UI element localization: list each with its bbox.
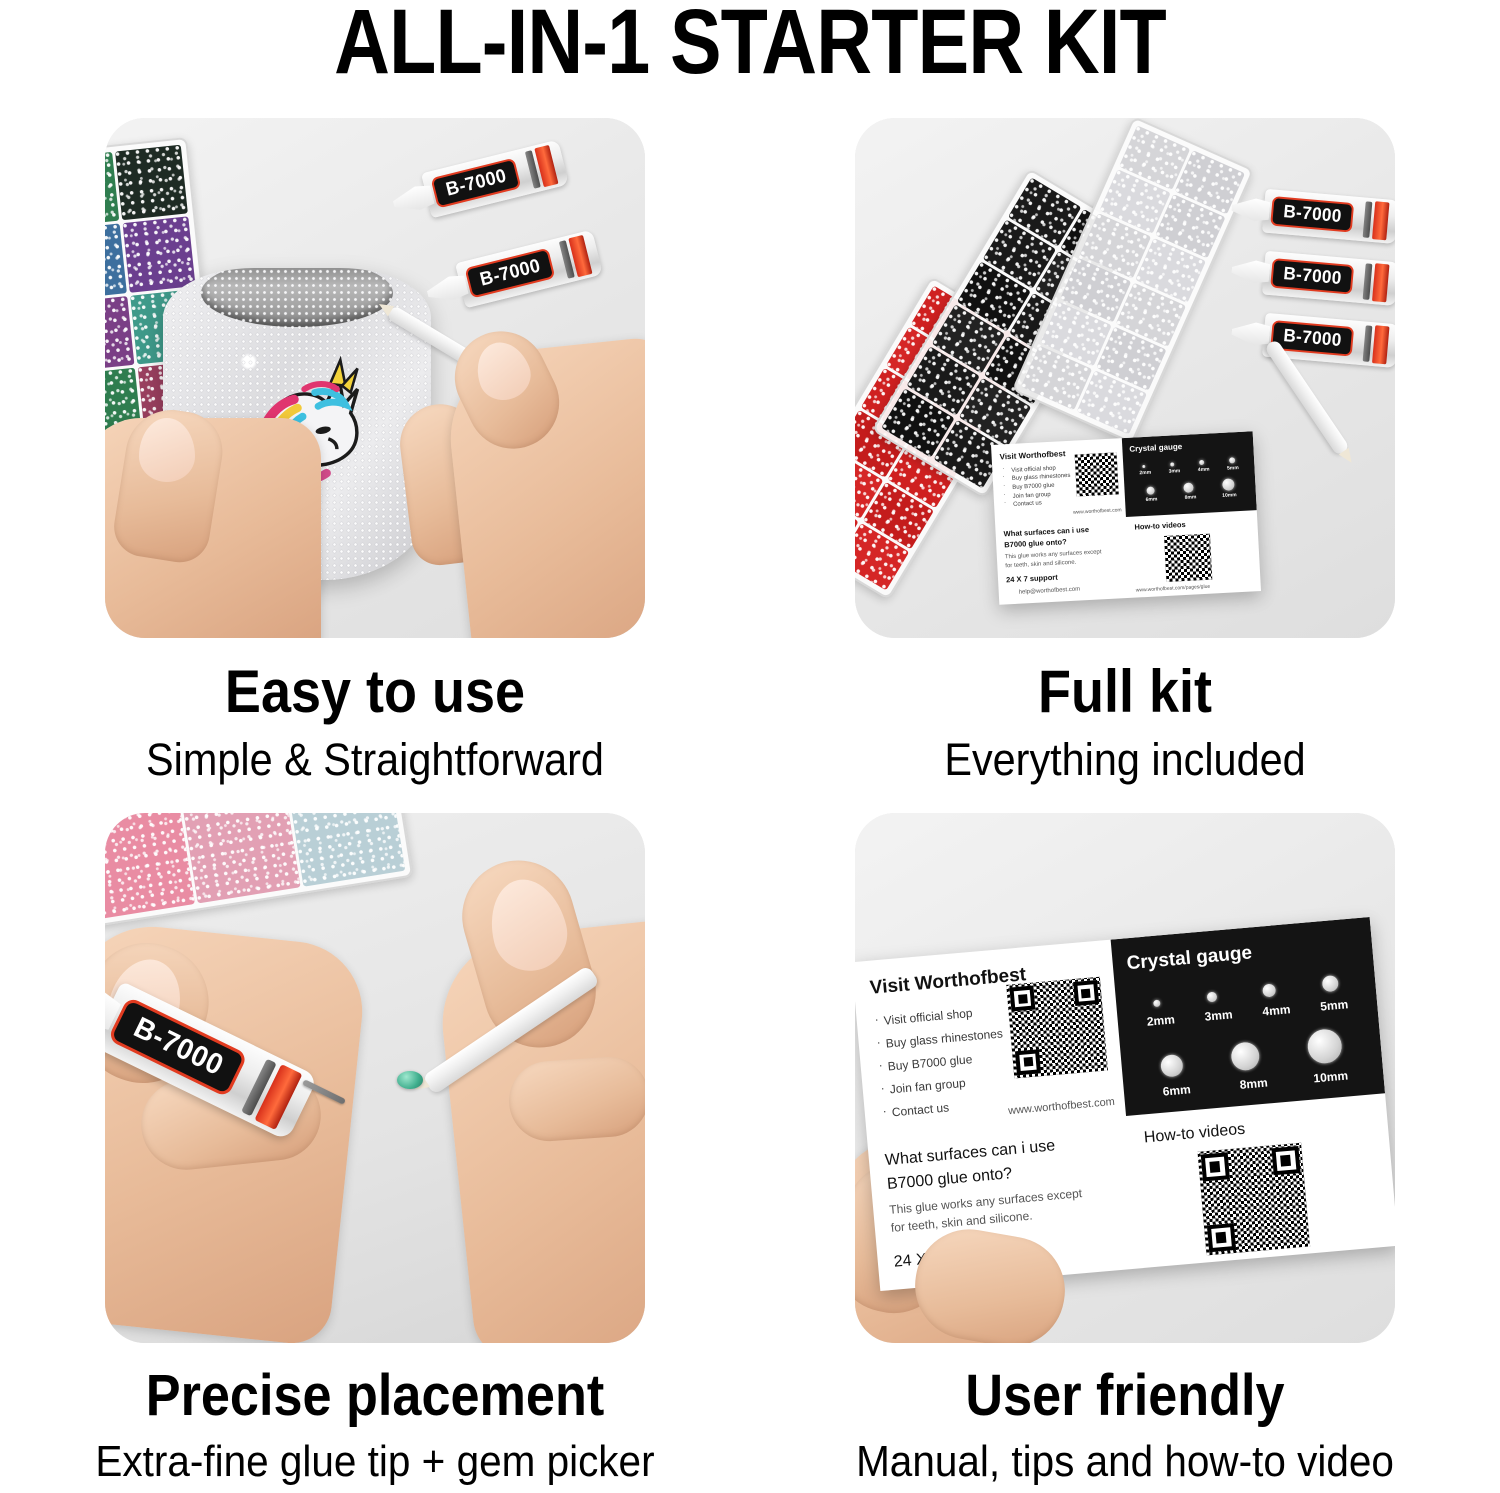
photo-user-friendly: Visit Worthofbest Visit official shop Bu… <box>855 813 1395 1343</box>
card-pane-crystal-gauge: Crystal gauge 2mm 3mm 4mm 5mm <box>1122 431 1257 517</box>
gauge-dot-2mm <box>1153 999 1161 1007</box>
instruction-card: Visit Worthofbest Visit official shop Bu… <box>855 917 1395 1291</box>
page-title: ALL-IN-1 STARTER KIT <box>120 0 1380 91</box>
photo-full-kit: B-7000 B-7000 B-7000 Visit W <box>855 118 1395 638</box>
qr-code-shop-icon <box>1006 977 1108 1079</box>
caption-heading: User friendly <box>788 1365 1463 1428</box>
gauge-dot-10mm <box>1307 1027 1344 1064</box>
feature-cell-easy-to-use: B-7000 B-7000 Easy to use Simple & Strai… <box>0 118 750 784</box>
instruction-card-mini: Visit Worthofbest Visit official shop Bu… <box>991 431 1261 604</box>
gauge-dot-4mm <box>1262 983 1276 997</box>
glue-nozzle <box>425 273 470 306</box>
card-site-url: www.worthofbest.com <box>1073 507 1122 517</box>
finger <box>506 1054 645 1144</box>
caption-user-friendly: User friendly Manual, tips and how-to vi… <box>750 1365 1500 1486</box>
caption-full-kit: Full kit Everything included <box>750 660 1500 784</box>
photo-precise-placement: B-7000 <box>105 813 645 1343</box>
caption-subheading: Manual, tips and how-to video <box>780 1438 1470 1486</box>
glue-nozzle <box>391 183 436 216</box>
gauge-dot-6mm <box>1160 1053 1184 1077</box>
card-pane-videos: How-to videos www.worthofbest.com/pages/… <box>1126 510 1261 597</box>
feature-cell-full-kit: B-7000 B-7000 B-7000 Visit W <box>750 118 1500 784</box>
caption-subheading: Everything included <box>780 735 1470 785</box>
card-pane-visit: Visit Worthofbest Visit official shop Bu… <box>991 438 1126 524</box>
feature-cell-user-friendly: Visit Worthofbest Visit official shop Bu… <box>750 813 1500 1486</box>
infographic-sheet: ALL-IN-1 STARTER KIT <box>0 0 1500 1493</box>
feature-grid: B-7000 B-7000 Easy to use Simple & Strai… <box>0 118 1500 1493</box>
photo-easy-to-use: B-7000 B-7000 <box>105 118 645 638</box>
card-pane-visit: Visit Worthofbest Visit official shop Bu… <box>855 940 1126 1138</box>
qr-code-shop-icon <box>1075 452 1119 496</box>
feature-cell-precise-placement: B-7000 Precise placement Extra-fine glue… <box>0 813 750 1486</box>
caption-subheading: Simple & Straightforward <box>30 735 720 785</box>
caption-heading: Easy to use <box>38 660 713 725</box>
caption-precise-placement: Precise placement Extra-fine glue tip + … <box>0 1365 750 1486</box>
gauge-dot-5mm <box>1321 975 1338 992</box>
card-videos-url: www.worthofbest.com/pages/glue <box>1136 583 1211 594</box>
qr-code-videos-icon <box>1197 1143 1310 1256</box>
gem-on-picker-tip <box>397 1071 423 1089</box>
caption-heading: Precise placement <box>38 1365 713 1428</box>
gauge-dot-8mm <box>1230 1041 1260 1071</box>
caption-heading: Full kit <box>788 660 1463 725</box>
card-pane-crystal-gauge: Crystal gauge 2mm 3mm 4mm 5mm <box>1111 917 1385 1115</box>
card-pane-surfaces: What surfaces can i use B7000 glue onto?… <box>995 517 1130 604</box>
caption-subheading: Extra-fine glue tip + gem picker <box>30 1438 720 1486</box>
caption-easy-to-use: Easy to use Simple & Straightforward <box>0 660 750 784</box>
gauge-dot-3mm <box>1206 991 1217 1002</box>
qr-code-videos-icon <box>1164 534 1212 582</box>
